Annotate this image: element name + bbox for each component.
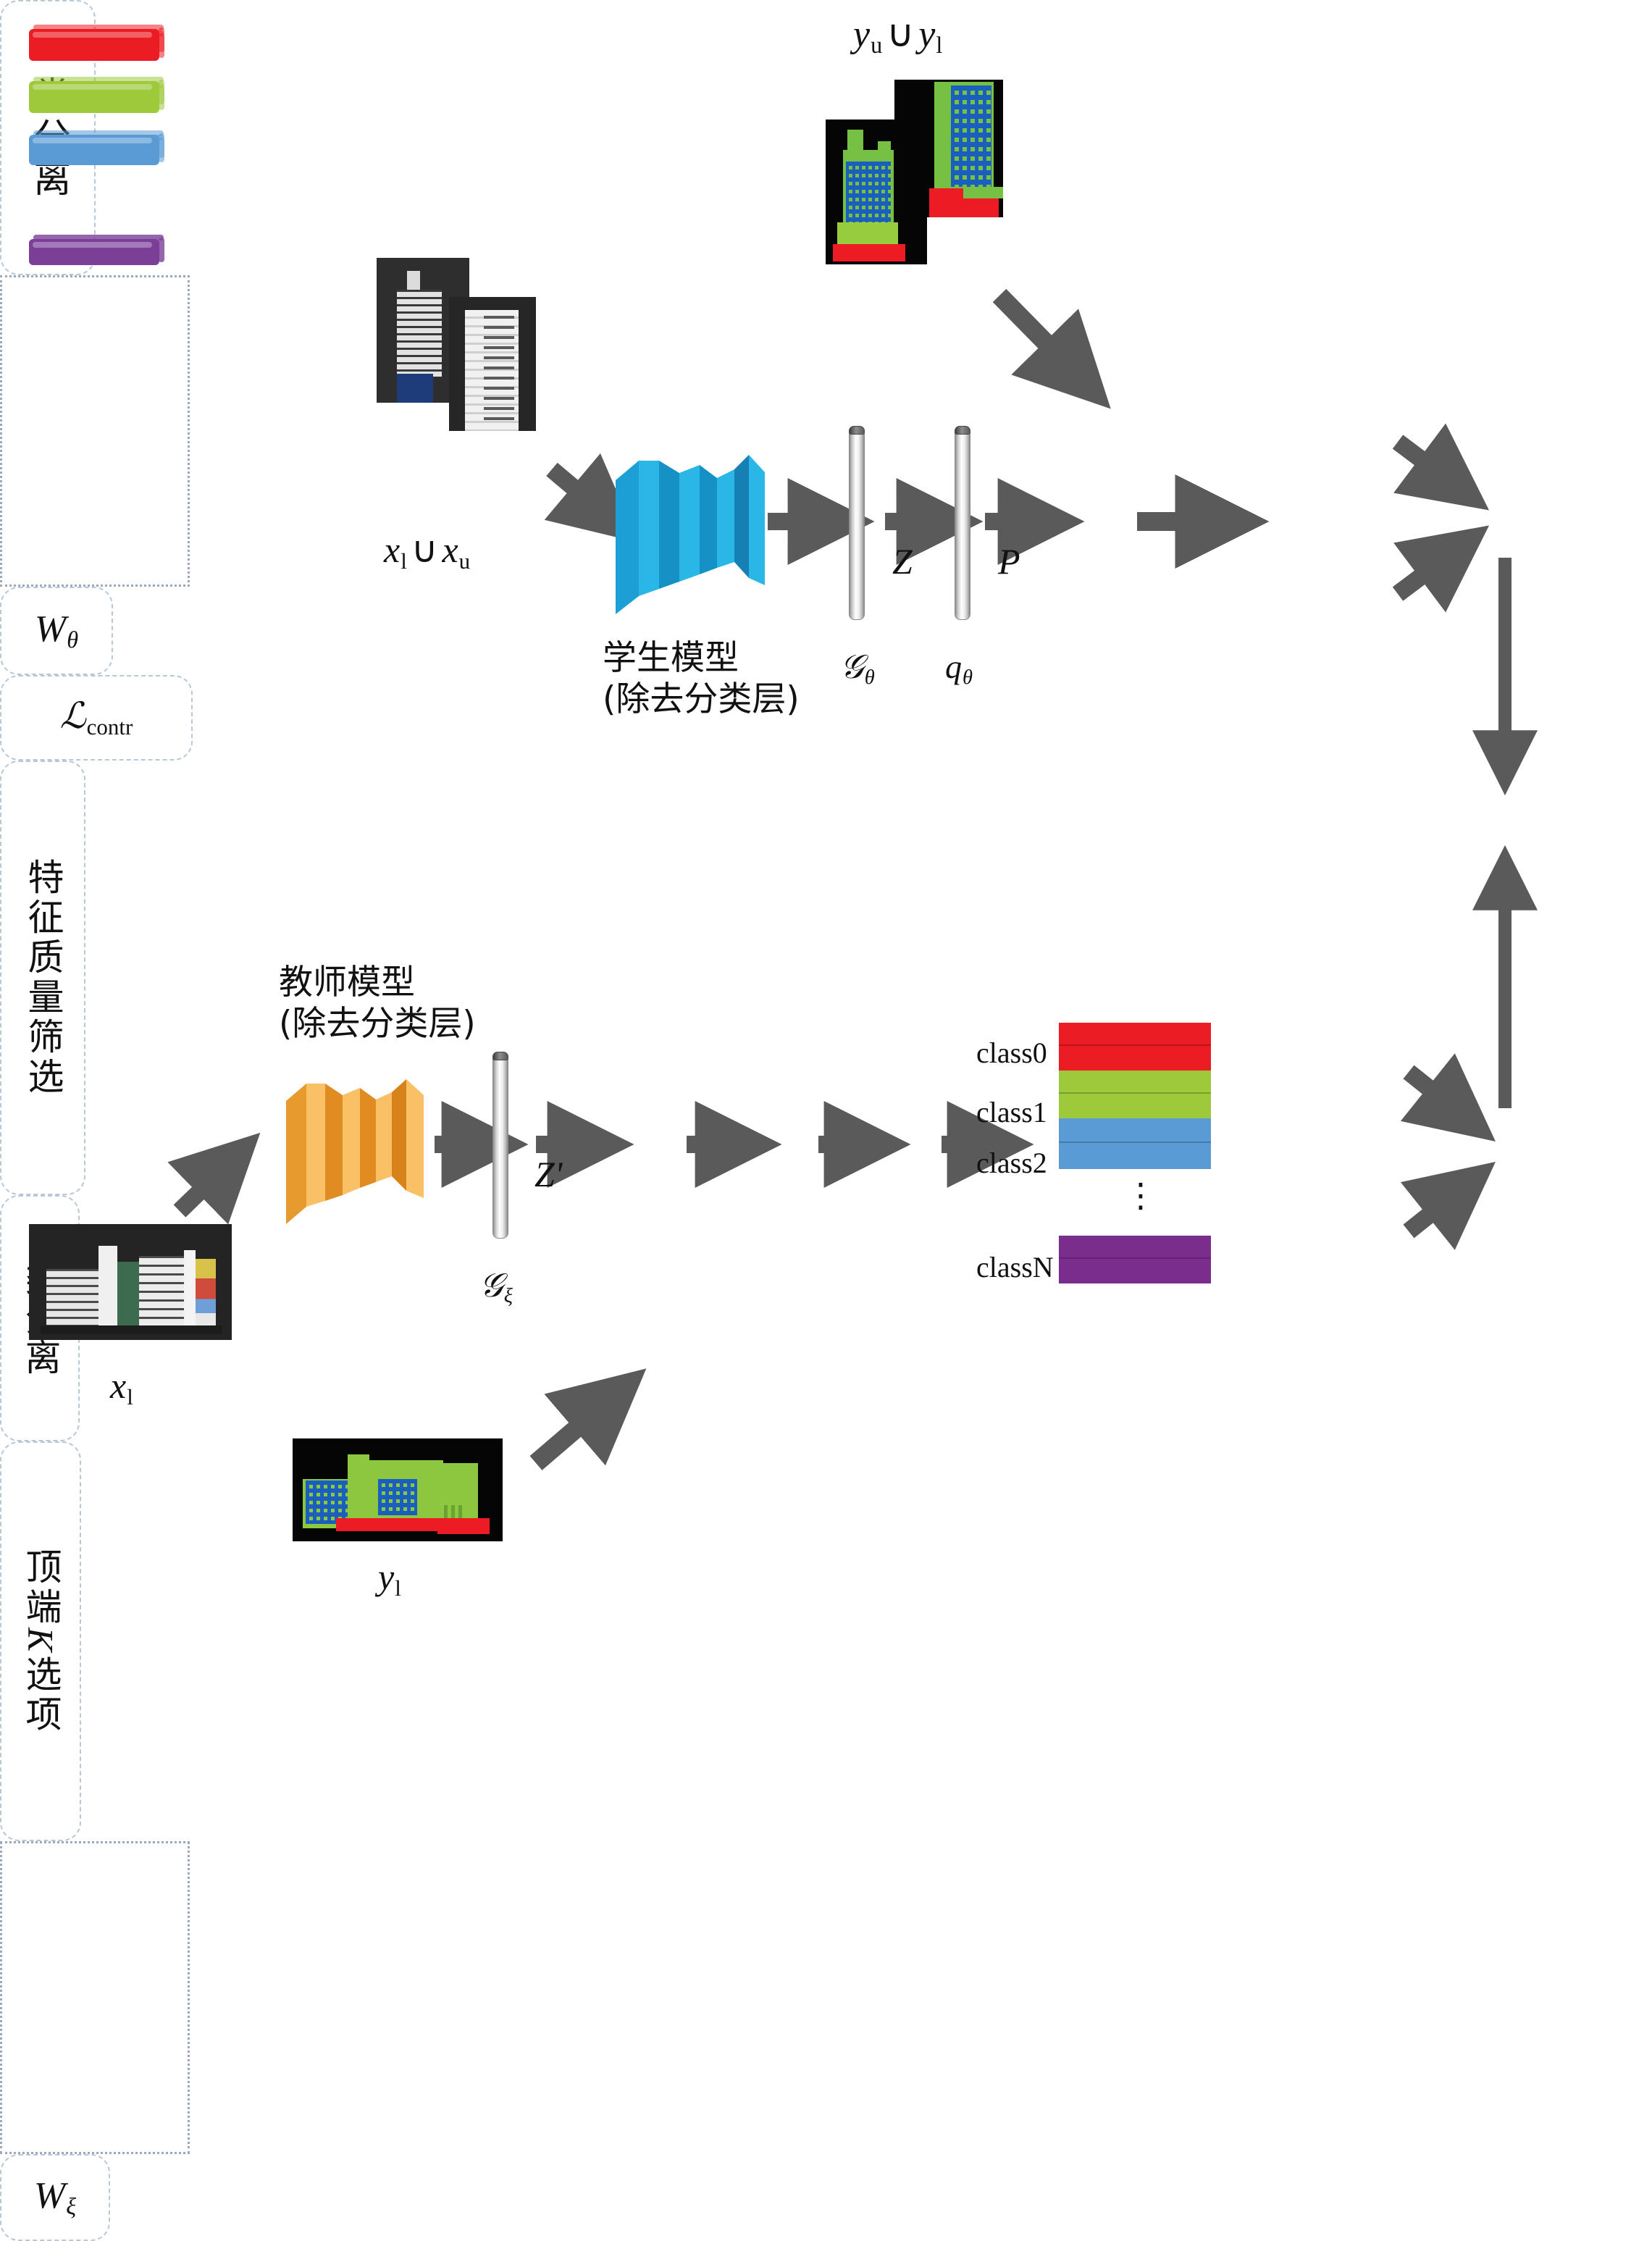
feature-quality-filter-label: 特征质量筛选 bbox=[21, 858, 65, 1097]
labeled-input-photo bbox=[29, 1224, 232, 1340]
w-xi-base: W bbox=[34, 2175, 65, 2216]
teacher-model-name: 教师模型 (除去分类层) bbox=[279, 962, 476, 1045]
topk-selection-label: 顶端K选项 bbox=[19, 1548, 63, 1735]
label-y-union-base1: y bbox=[853, 14, 870, 55]
label-g-theta-base: 𝒢 bbox=[840, 648, 864, 685]
class-label-0: class0 bbox=[976, 1036, 1047, 1070]
w-theta-base: W bbox=[35, 608, 66, 650]
segmentation-mask-front bbox=[826, 120, 927, 264]
label-y-l: yl bbox=[378, 1559, 401, 1599]
teacher-model-icon bbox=[279, 1065, 431, 1224]
label-g-xi-sub: ξ bbox=[504, 1285, 513, 1307]
w-xi-label: Wξ bbox=[34, 2177, 76, 2218]
student-model-name: 学生模型 (除去分类层) bbox=[603, 637, 800, 721]
teacher-feature-bars-panel bbox=[0, 1841, 190, 2154]
w-theta-box[interactable]: Wθ bbox=[0, 587, 113, 675]
w-theta-sub: θ bbox=[67, 627, 78, 653]
label-z-prime: Z' bbox=[534, 1156, 563, 1192]
teacher-feature-bar-1 bbox=[29, 81, 159, 107]
label-x-union-sub1: l bbox=[401, 548, 407, 574]
label-x-union: xl∪xu bbox=[384, 532, 470, 572]
label-q-theta-base: q bbox=[945, 648, 962, 685]
label-x-union-op: ∪ bbox=[411, 529, 438, 570]
label-g-theta-sub: θ bbox=[865, 666, 875, 689]
contrastive-loss-label: ℒcontr bbox=[60, 698, 133, 738]
input-photo-front bbox=[449, 297, 536, 431]
label-x-l: xl bbox=[110, 1367, 133, 1408]
feature-vector-p bbox=[955, 426, 970, 620]
label-g-xi-base: 𝒢 bbox=[479, 1267, 503, 1304]
w-xi-sub: ξ bbox=[66, 2193, 76, 2219]
contrastive-loss-box[interactable]: ℒcontr bbox=[0, 675, 193, 761]
label-x-union-base1: x bbox=[384, 529, 400, 570]
label-x-union-sub2: u bbox=[459, 548, 471, 574]
label-y-l-base: y bbox=[378, 1557, 394, 1597]
teacher-model-name-line2: (除去分类层) bbox=[279, 1003, 476, 1044]
label-g-xi: 𝒢ξ bbox=[479, 1269, 513, 1307]
teacher-feature-bar-0 bbox=[29, 29, 159, 55]
student-model-name-line2: (除去分类层) bbox=[603, 679, 800, 720]
label-y-union-op: ∪ bbox=[886, 14, 914, 55]
class-label-2: class2 bbox=[976, 1146, 1047, 1180]
class-band-1 bbox=[1059, 1071, 1211, 1118]
teacher-feature-bar-2 bbox=[29, 135, 159, 161]
topk-part2: 选项 bbox=[20, 1655, 62, 1735]
teacher-model-name-line1: 教师模型 bbox=[279, 962, 476, 1003]
label-y-union: yu∪yl bbox=[853, 16, 942, 56]
w-xi-box[interactable]: Wξ bbox=[0, 2154, 110, 2241]
student-feature-bars-panel bbox=[0, 275, 190, 587]
topk-k: K bbox=[21, 1628, 62, 1655]
label-y-union-base2: y bbox=[918, 14, 935, 55]
label-q-theta-sub: θ bbox=[963, 666, 973, 689]
diagram-canvas: yu∪yl xl∪xu bbox=[0, 0, 1652, 1615]
class-band-2 bbox=[1059, 1118, 1211, 1169]
teacher-feature-bar-3 bbox=[29, 239, 159, 265]
contrastive-loss-sub: contr bbox=[87, 714, 133, 740]
class-band-0 bbox=[1059, 1023, 1211, 1071]
feature-quality-filter-box[interactable]: 特征质量筛选 bbox=[0, 761, 85, 1195]
label-z: Z bbox=[892, 543, 913, 579]
topk-selection-box[interactable]: 顶端K选项 bbox=[0, 1441, 81, 1841]
label-y-l-sub: l bbox=[395, 1575, 401, 1601]
class-list-ellipsis: ⋮ bbox=[1124, 1184, 1157, 1207]
w-theta-label: Wθ bbox=[35, 611, 78, 651]
class-band-n bbox=[1059, 1236, 1211, 1283]
label-y-union-sub2: l bbox=[936, 32, 942, 58]
label-y-union-sub1: u bbox=[871, 32, 882, 58]
student-model-name-line1: 学生模型 bbox=[603, 637, 800, 679]
label-x-union-base2: x bbox=[442, 529, 458, 570]
student-model-icon bbox=[607, 440, 772, 614]
feature-vector-z-prime bbox=[492, 1052, 508, 1239]
contrastive-loss-base: ℒ bbox=[60, 695, 86, 736]
topk-part1: 顶端 bbox=[20, 1548, 62, 1628]
label-p: P bbox=[998, 543, 1020, 579]
label-x-l-base: x bbox=[110, 1365, 126, 1406]
feature-vector-z bbox=[849, 426, 865, 620]
class-label-1: class1 bbox=[976, 1095, 1047, 1129]
class-label-n: classN bbox=[976, 1250, 1054, 1284]
labeled-segmentation-mask bbox=[293, 1438, 503, 1541]
label-x-l-sub: l bbox=[127, 1384, 133, 1409]
label-g-theta: 𝒢θ bbox=[840, 650, 875, 689]
label-q-theta: qθ bbox=[945, 650, 973, 689]
